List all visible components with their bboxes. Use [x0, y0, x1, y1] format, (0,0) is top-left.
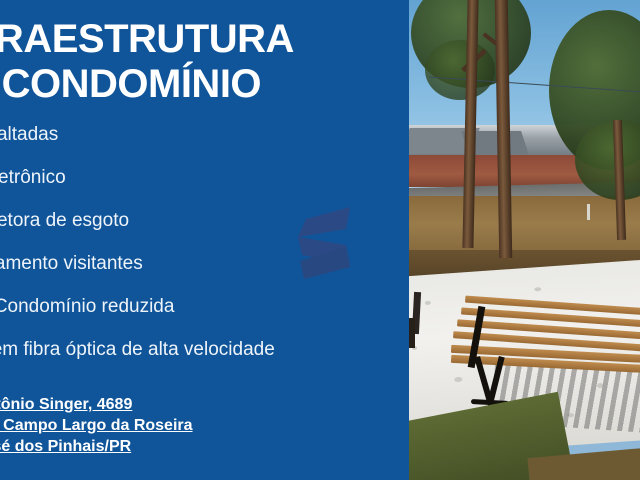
list-item: Estacionamento visitantes	[0, 253, 409, 275]
address-line-2: Estrada Campo Largo da Roseira	[0, 415, 400, 436]
headline-line-1: INFRAESTRUTURA	[0, 17, 409, 62]
property-infrastructure-banner: INFRAESTRUTURA DO CONDOMÍNIO Ruas asfalt…	[0, 0, 640, 480]
list-item: Internet em fibra óptica de alta velocid…	[0, 339, 409, 361]
headline-line-2: DO CONDOMÍNIO	[0, 62, 409, 107]
list-item: Ruas asfaltadas	[0, 124, 409, 146]
address-block: Rua Antônio Singer, 4689 Estrada Campo L…	[0, 394, 400, 457]
feature-list: Ruas asfaltadas Portão eletrônico Rede c…	[0, 124, 409, 382]
list-item: Portão eletrônico	[0, 167, 409, 189]
wooden-post	[409, 318, 415, 348]
park-bench-photo	[409, 0, 640, 480]
list-item: Taxa de Condomínio reduzida	[0, 296, 409, 318]
address-line-1: Rua Antônio Singer, 4689	[0, 394, 400, 415]
headline: INFRAESTRUTURA DO CONDOMÍNIO	[0, 17, 409, 107]
address-line-3: São José dos Pinhais/PR	[0, 436, 400, 457]
info-panel: INFRAESTRUTURA DO CONDOMÍNIO Ruas asfalt…	[0, 0, 409, 480]
fence-post	[587, 204, 590, 220]
list-item: Rede coletora de esgoto	[0, 210, 409, 232]
